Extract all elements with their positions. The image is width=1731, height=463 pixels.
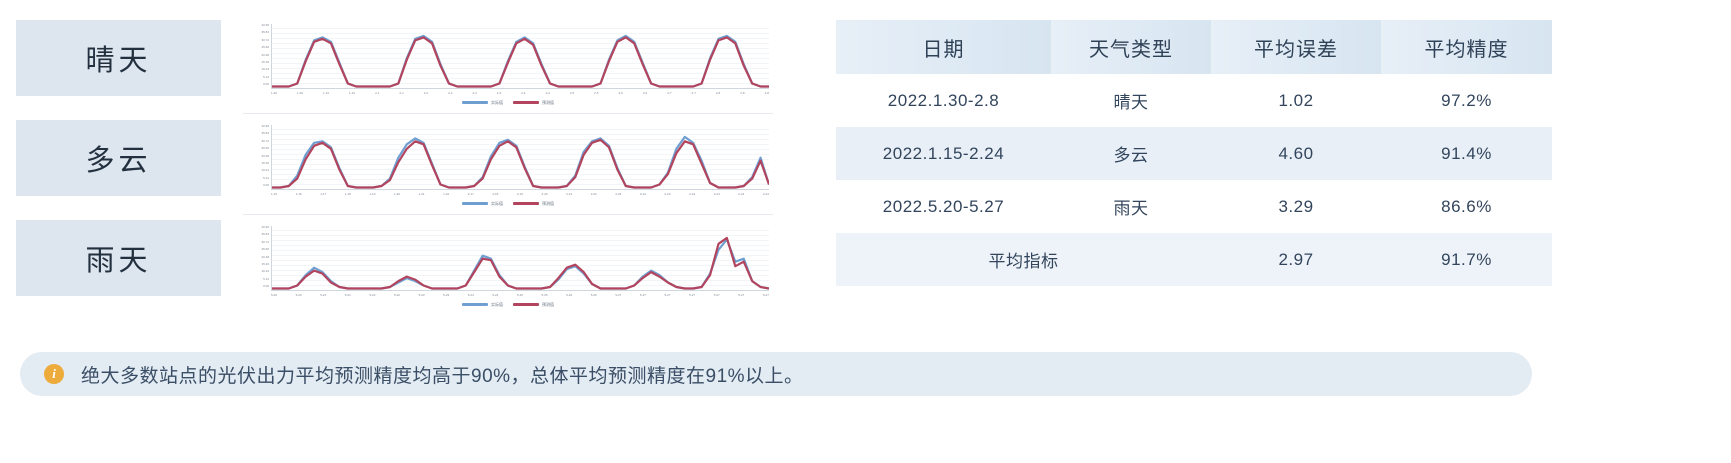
x-tick-label: 5-27	[615, 291, 621, 300]
x-tick-label: 5-25	[542, 291, 548, 300]
table-header-weather-type: 天气类型	[1051, 20, 1211, 74]
y-tick-label: 35.84	[261, 233, 269, 236]
weather-chip-label: 多云	[85, 137, 151, 179]
x-tick-label: 2-24	[714, 190, 720, 199]
legend-swatch-predicted	[513, 202, 539, 205]
cell-average-error: 2.97	[1211, 233, 1381, 286]
x-tick-label: 1-15	[271, 190, 277, 199]
x-tick-label: 5-21	[345, 291, 351, 300]
line-series-svg	[272, 125, 769, 189]
sunny-forecast-chart[interactable]: 40.9635.8430.7225.6020.4815.3610.245.120…	[243, 18, 773, 114]
weather-chip-label: 雨天	[85, 237, 151, 279]
table-row: 2022.1.30-2.8 晴天 1.02 97.2%	[836, 74, 1552, 127]
cell-average-accuracy: 86.6%	[1381, 180, 1552, 233]
x-tick-label: 2-22	[591, 190, 597, 199]
x-tick-label: 2-3	[472, 89, 476, 98]
x-tick-label: 2-19	[517, 190, 523, 199]
x-tick-label: 5-21	[320, 291, 326, 300]
y-tick-label: 35.84	[261, 31, 269, 34]
x-tick-label: 5-27	[738, 291, 744, 300]
y-tick-label: 25.60	[261, 46, 269, 49]
weather-forecast-panel: 晴天 多云 雨天 40.9635.8430.7225.6020.4815.361…	[0, 0, 1731, 463]
legend-item-actual: 实际值	[462, 302, 503, 307]
y-tick-label: 20.48	[261, 155, 269, 158]
legend-swatch-actual	[462, 303, 488, 306]
x-tick-label: 2-17	[468, 190, 474, 199]
table-header-date: 日期	[836, 20, 1051, 74]
chart-legend: 实际值 预测值	[243, 302, 773, 307]
y-tick-label: 40.96	[261, 226, 269, 229]
table-row: 2022.1.15-2.24 多云 4.60 91.4%	[836, 127, 1552, 180]
y-axis-ticks: 40.9635.8430.7225.6020.4815.3610.245.120…	[243, 125, 269, 187]
cell-average-error: 4.60	[1211, 127, 1381, 180]
x-tick-label: 1-31	[323, 89, 329, 98]
line-series-svg	[272, 226, 769, 290]
series-predicted-line	[272, 238, 769, 289]
x-tick-label: 2-7	[667, 89, 671, 98]
x-tick-label: 1-20	[394, 190, 400, 199]
x-tick-label: 2-1	[399, 89, 403, 98]
series-actual-line	[272, 239, 769, 288]
x-tick-label: 2-24	[665, 190, 671, 199]
info-note-bar: i 绝大多数站点的光伏出力平均预测精度均高于90%，总体平均预测精度在91%以上…	[20, 352, 1532, 396]
legend-label-actual: 实际值	[491, 201, 503, 206]
y-tick-label: 15.36	[261, 162, 269, 165]
x-tick-label: 2-2	[448, 89, 452, 98]
y-tick-label: 40.96	[261, 24, 269, 27]
cell-weather-type: 多云	[1051, 127, 1211, 180]
rainy-forecast-chart[interactable]: 40.9635.8430.7225.6020.4815.3610.245.120…	[243, 220, 773, 315]
x-tick-label: 5-24	[492, 291, 498, 300]
legend-swatch-predicted	[513, 101, 539, 104]
x-axis-ticks: 5-205-205-215-215-225-225-235-235-245-24…	[271, 291, 769, 300]
legend-label-predicted: 预测值	[542, 302, 554, 307]
x-tick-label: 2-8	[740, 89, 744, 98]
cell-average-accuracy: 91.7%	[1381, 233, 1552, 286]
legend-item-predicted: 预测值	[513, 302, 554, 307]
x-tick-label: 2-4	[545, 89, 549, 98]
y-tick-label: 25.60	[261, 248, 269, 251]
line-series-svg	[272, 24, 769, 88]
plot-area	[271, 24, 769, 89]
cell-average-error: 3.29	[1211, 180, 1381, 233]
x-tick-label: 2-24	[689, 190, 695, 199]
y-tick-label: 0.00	[263, 83, 269, 86]
y-tick-label: 15.36	[261, 263, 269, 266]
x-tick-label: 5-27	[640, 291, 646, 300]
x-tick-label: 1-31	[349, 89, 355, 98]
y-tick-label: 5.12	[263, 278, 269, 281]
x-tick-label: 5-23	[419, 291, 425, 300]
x-tick-label: 1-17	[320, 190, 326, 199]
x-tick-label: 2-5	[594, 89, 598, 98]
y-tick-label: 0.00	[263, 285, 269, 288]
weather-chip-label: 晴天	[85, 37, 151, 79]
cell-average-accuracy: 97.2%	[1381, 74, 1552, 127]
chart-legend: 实际值 预测值	[243, 100, 773, 105]
legend-swatch-predicted	[513, 303, 539, 306]
legend-item-predicted: 预测值	[513, 201, 554, 206]
x-tick-label: 2-6	[619, 89, 623, 98]
cell-summary-label: 平均指标	[836, 233, 1211, 286]
cloudy-forecast-chart[interactable]: 40.9635.8430.7225.6020.4815.3610.245.120…	[243, 119, 773, 215]
x-tick-label: 5-24	[468, 291, 474, 300]
x-tick-label: 2-4	[521, 89, 525, 98]
table-header-average-accuracy: 平均精度	[1381, 20, 1552, 74]
legend-label-predicted: 预测值	[542, 100, 554, 105]
x-tick-label: 5-22	[394, 291, 400, 300]
x-tick-label: 2-21	[566, 190, 572, 199]
legend-label-actual: 实际值	[491, 100, 503, 105]
info-note-text: 绝大多数站点的光伏出力平均预测精度均高于90%，总体平均预测精度在91%以上。	[81, 361, 804, 388]
legend-item-actual: 实际值	[462, 201, 503, 206]
y-tick-label: 40.96	[261, 125, 269, 128]
x-tick-label: 1-30	[297, 89, 303, 98]
legend-item-predicted: 预测值	[513, 100, 554, 105]
x-tick-label: 2-24	[763, 190, 769, 199]
y-tick-label: 10.24	[261, 68, 269, 71]
y-tick-label: 35.84	[261, 132, 269, 135]
cell-average-error: 1.02	[1211, 74, 1381, 127]
x-tick-label: 2-24	[640, 190, 646, 199]
x-tick-label: 5-25	[517, 291, 523, 300]
weather-chip-sunny[interactable]: 晴天	[16, 20, 221, 96]
cell-average-accuracy: 91.4%	[1381, 127, 1552, 180]
y-tick-label: 10.24	[261, 169, 269, 172]
metrics-table-wrapper: 日期 天气类型 平均误差 平均精度 2022.1.30-2.8 晴天 1.02 …	[836, 20, 1552, 286]
x-tick-label: 2-23	[615, 190, 621, 199]
legend-item-actual: 实际值	[462, 100, 503, 105]
x-tick-label: 5-20	[271, 291, 277, 300]
x-tick-label: 2-7	[692, 89, 696, 98]
x-tick-label: 5-26	[591, 291, 597, 300]
y-axis-ticks: 40.9635.8430.7225.6020.4815.3610.245.120…	[243, 24, 269, 86]
weather-chip-rainy[interactable]: 雨天	[16, 220, 221, 296]
y-tick-label: 15.36	[261, 61, 269, 64]
chart-column: 40.9635.8430.7225.6020.4815.3610.245.120…	[243, 18, 773, 320]
y-tick-label: 0.00	[263, 184, 269, 187]
x-tick-label: 5-27	[714, 291, 720, 300]
x-tick-label: 2-8	[716, 89, 720, 98]
legend-swatch-actual	[462, 101, 488, 104]
y-tick-label: 30.72	[261, 241, 269, 244]
x-tick-label: 2-1	[375, 89, 379, 98]
x-tick-label: 1-30	[271, 89, 277, 98]
table-header-row: 日期 天气类型 平均误差 平均精度	[836, 20, 1552, 74]
y-tick-label: 20.48	[261, 54, 269, 57]
x-axis-ticks: 1-151-161-171-181-191-201-211-222-172-18…	[271, 190, 769, 199]
weather-chip-cloudy[interactable]: 多云	[16, 120, 221, 196]
x-tick-label: 1-22	[443, 190, 449, 199]
legend-label-predicted: 预测值	[542, 201, 554, 206]
cell-weather-type: 晴天	[1051, 74, 1211, 127]
y-tick-label: 30.72	[261, 140, 269, 143]
x-tick-label: 5-27	[763, 291, 769, 300]
x-tick-label: 1-19	[369, 190, 375, 199]
y-tick-label: 10.24	[261, 270, 269, 273]
table-row-summary: 平均指标 2.97 91.7%	[836, 233, 1552, 286]
y-tick-label: 20.48	[261, 256, 269, 259]
x-tick-label: 2-5	[570, 89, 574, 98]
y-tick-label: 25.60	[261, 147, 269, 150]
table-row: 2022.5.20-5.27 雨天 3.29 86.6%	[836, 180, 1552, 233]
cell-weather-type: 雨天	[1051, 180, 1211, 233]
chart-legend: 实际值 预测值	[243, 201, 773, 206]
table-header-average-error: 平均误差	[1211, 20, 1381, 74]
series-predicted-line	[272, 37, 769, 86]
x-tick-label: 5-27	[665, 291, 671, 300]
x-tick-label: 5-26	[566, 291, 572, 300]
x-tick-label: 1-16	[296, 190, 302, 199]
series-predicted-line	[272, 140, 769, 188]
series-actual-line	[272, 137, 769, 188]
x-tick-label: 2-6	[643, 89, 647, 98]
info-icon: i	[44, 364, 64, 384]
x-axis-ticks: 1-301-301-311-312-12-12-22-22-32-32-42-4…	[271, 89, 769, 98]
x-tick-label: 2-24	[738, 190, 744, 199]
y-axis-ticks: 40.9635.8430.7225.6020.4815.3610.245.120…	[243, 226, 269, 288]
metrics-table: 日期 天气类型 平均误差 平均精度 2022.1.30-2.8 晴天 1.02 …	[836, 20, 1552, 286]
x-tick-label: 5-22	[369, 291, 375, 300]
x-tick-label: 1-18	[345, 190, 351, 199]
cell-date: 2022.1.15-2.24	[836, 127, 1051, 180]
weather-label-column: 晴天 多云 雨天	[16, 20, 221, 296]
legend-swatch-actual	[462, 202, 488, 205]
x-tick-label: 5-23	[443, 291, 449, 300]
y-tick-label: 30.72	[261, 39, 269, 42]
legend-label-actual: 实际值	[491, 302, 503, 307]
x-tick-label: 1-21	[419, 190, 425, 199]
y-tick-label: 5.12	[263, 76, 269, 79]
x-tick-label: 2-20	[542, 190, 548, 199]
x-tick-label: 5-27	[689, 291, 695, 300]
x-tick-label: 2-8	[765, 89, 769, 98]
x-tick-label: 2-3	[497, 89, 501, 98]
cell-date: 2022.5.20-5.27	[836, 180, 1051, 233]
cell-date: 2022.1.30-2.8	[836, 74, 1051, 127]
plot-area	[271, 125, 769, 190]
plot-area	[271, 226, 769, 291]
x-tick-label: 2-18	[492, 190, 498, 199]
y-tick-label: 5.12	[263, 177, 269, 180]
x-tick-label: 2-2	[424, 89, 428, 98]
x-tick-label: 5-20	[296, 291, 302, 300]
